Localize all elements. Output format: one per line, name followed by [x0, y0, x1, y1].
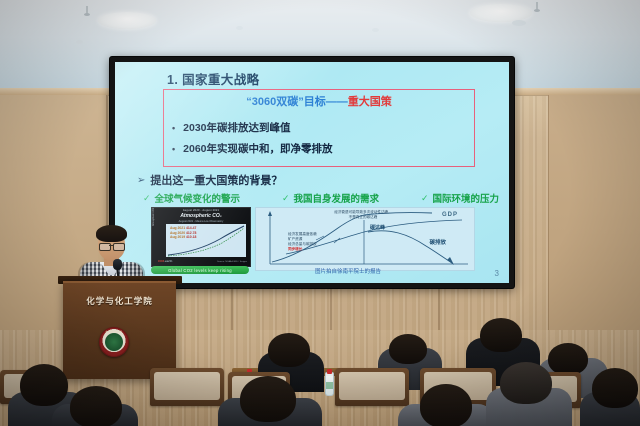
speaker-hair	[96, 225, 127, 242]
podium-label: 化学与化工学院	[63, 295, 176, 307]
check-label: 全球气候变化的警示	[155, 191, 241, 205]
projected-slide: 1. 国家重大战略 “3060双碳”目标——重大国策 • 2030年碳排放达到峰…	[115, 62, 509, 283]
checklist-row: ✓ 全球气候变化的警示 ✓ 我国自身发展的需求 ✓ 国际环境的压力	[143, 191, 499, 205]
gdp-note-left-red: 同步增长	[288, 247, 302, 251]
lecture-hall-photo: 1. 国家重大战略 “3060双碳”目标——重大国策 • 2030年碳排放达到峰…	[0, 0, 640, 426]
co2-reading-value: 414.47	[186, 226, 196, 230]
highlight-box: “3060双碳”目标——重大国策 • 2030年碳排放达到峰值 • 2060年实…	[163, 89, 475, 167]
seat-cushion	[154, 372, 220, 400]
gdp-axis-label: GDP	[442, 212, 458, 218]
question-text: 提出这一重大国策的背景？	[150, 172, 282, 188]
carbon-emission-label: 碳排放	[429, 238, 446, 246]
gdp-note-top: 经济衰退可能导致多次波动性达峰， 不是真正的碳达峰	[304, 210, 422, 220]
co2-reading-year: Aug 2020	[170, 231, 185, 235]
attendee-head	[500, 362, 552, 404]
co2-banner: Global CO2 levels keep rising	[151, 266, 249, 274]
bullet-item: • 2060年实现碳中和，即净零排放	[172, 141, 333, 156]
co2-reading-value: 412.78	[186, 231, 196, 235]
sprinkler-head	[86, 6, 88, 15]
box-heading: “3060双碳”目标——重大国策	[164, 93, 474, 109]
bullet-text: 2060年实现碳中和，即净零排放	[183, 141, 332, 156]
projection-screen-frame: 1. 国家重大战略 “3060双碳”目标——重大国策 • 2030年碳排放达到峰…	[110, 57, 514, 288]
check-item: ✓ 全球气候变化的警示	[143, 191, 240, 205]
ceiling-light	[98, 12, 156, 29]
co2-reading-year: Aug 2021	[170, 226, 185, 230]
attendee-head	[480, 318, 522, 352]
co2-chart-image: August 2020 - August 2021 Atmospheric CO…	[151, 207, 251, 267]
co2-reading-value: 410.18	[186, 235, 196, 239]
attendee-head	[268, 333, 310, 367]
slide-title: 1. 国家重大战略	[167, 69, 260, 88]
wall-panel-right	[548, 95, 640, 368]
bullet-text: 2030年碳排放达到峰值	[183, 120, 290, 135]
bullet-item: • 2030年碳排放达到峰值	[172, 120, 291, 135]
ceiling-speaker-grille	[76, 40, 83, 44]
co2-chart-subtitle: August 2021 - Mauna Loa Observatory	[152, 220, 250, 223]
attendee-head	[548, 343, 588, 375]
co2-reading: Aug 2019 410.18	[170, 235, 196, 240]
check-item: ✓ 国际环境的压力	[421, 191, 499, 205]
check-icon: ✓	[143, 193, 151, 204]
co2-chart-ylabel: Atmospheric CO2 (ppm)	[153, 216, 155, 226]
check-icon: ✓	[282, 193, 290, 204]
eyeglasses-icon	[113, 243, 125, 251]
co2-reading-year: Aug 2019	[170, 235, 185, 239]
sprinkler-head	[536, 2, 538, 11]
slide-number: 3	[495, 269, 499, 278]
box-heading-accent: 重大国策	[348, 96, 392, 108]
gdp-note-left: 经济发展高度依赖 矿产资源 经济总量与碳排放同步增长	[288, 232, 358, 252]
check-label: 我国自身发展的需求	[294, 191, 380, 205]
attendee-head	[240, 376, 296, 422]
co2-chart-readings: Aug 2021 414.47 Aug 2020 412.78 Aug 2019…	[170, 226, 196, 240]
co2-chart-header: August 2020 - August 2021	[152, 209, 250, 212]
carbon-peak-label: 碳达峰	[370, 224, 385, 231]
question-line: ➢ 提出这一重大国策的背景？	[137, 172, 282, 188]
ceiling-light	[470, 4, 532, 22]
box-heading-main: “3060双碳”目标——	[246, 96, 347, 108]
co2-earth-logo: CO2.earth	[158, 258, 172, 264]
seat	[150, 368, 224, 406]
ceiling-speaker-grille	[372, 28, 379, 32]
attendee-head	[420, 384, 472, 426]
ceiling-speaker-grille	[512, 20, 526, 26]
co2-chart-credit: Source: NOAA-ESRL / Scripps	[217, 261, 247, 263]
bullet-dot: •	[172, 144, 175, 154]
attendee-head	[592, 368, 638, 408]
microphone-icon	[113, 259, 122, 270]
eyeglasses-bridge	[109, 245, 113, 246]
attendee-head	[20, 364, 68, 406]
gdp-note-left-text: 经济发展高度依赖 矿产资源 经济总量与碳排放	[288, 232, 317, 246]
co2-logo-sub: .earth	[164, 259, 172, 263]
podium: 化学与化工学院 中国矿业大学	[63, 281, 176, 379]
ceiling-speaker-grille	[236, 26, 243, 30]
arrow-bullet-icon: ➢	[137, 175, 145, 186]
check-item: ✓ 我国自身发展的需求	[282, 191, 379, 205]
seat	[335, 368, 409, 406]
check-label: 国际环境的压力	[432, 191, 499, 205]
check-icon: ✓	[421, 193, 429, 204]
seat-cushion	[339, 372, 405, 400]
attendee-head	[70, 386, 122, 426]
emblem-inner-crest	[105, 333, 123, 351]
gdp-carbon-diagram: 经济衰退可能导致多次波动性达峰， 不是真正的碳达峰 经济发展高度依赖 矿产资源 …	[255, 207, 475, 271]
figure-caption: 图片拍自徐南平院士的报告	[315, 267, 381, 275]
bullet-dot: •	[172, 123, 175, 133]
university-emblem: 中国矿业大学	[99, 327, 129, 357]
bottle-label	[326, 382, 333, 389]
attendee-head	[389, 334, 427, 364]
water-bottle	[325, 372, 334, 396]
co2-chart-title: Atmospheric CO₂	[152, 213, 250, 219]
